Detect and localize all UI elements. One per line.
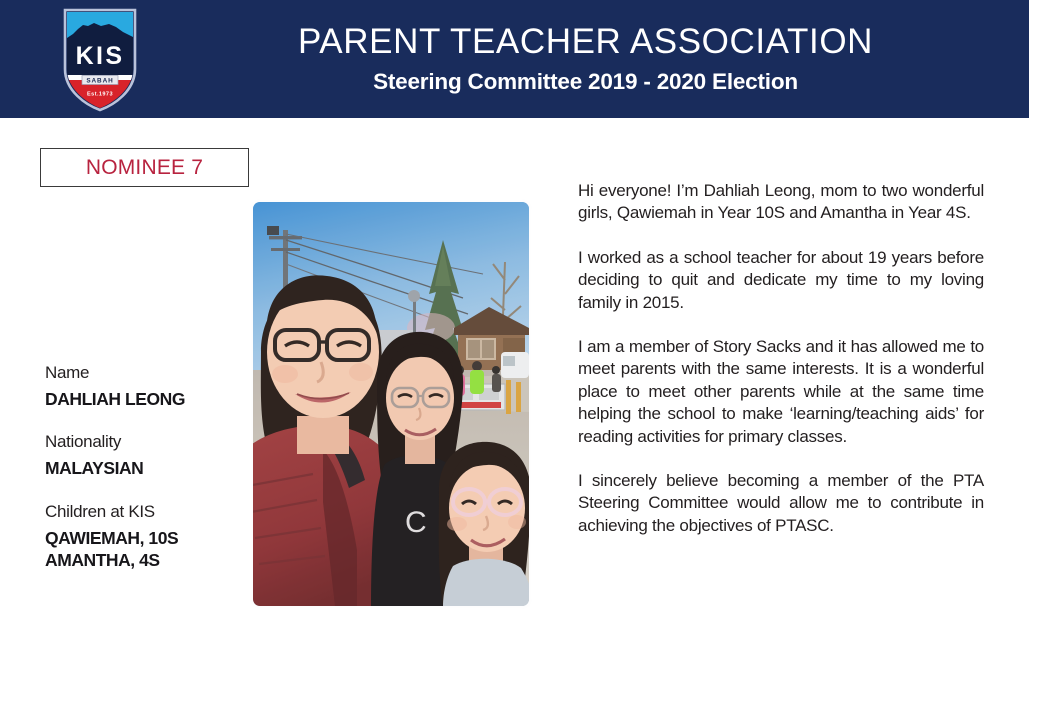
page-subtitle: Steering Committee 2019 - 2020 Election <box>373 70 798 94</box>
nominee-profile-page: KIS SABAH Est.1973 PARENT TEACHER ASSOCI… <box>0 0 1040 720</box>
statement-paragraph-3: I am a member of Story Sacks and it has … <box>578 336 984 448</box>
detail-group-nationality: Nationality MALAYSIAN <box>45 431 260 479</box>
nominee-portrait-photo: Columbia C <box>253 202 529 606</box>
detail-value-name: DAHLIAH LEONG <box>45 388 260 410</box>
svg-text:Est.1973: Est.1973 <box>87 92 113 98</box>
nominee-badge-label: NOMINEE 7 <box>86 156 203 180</box>
nominee-statement: Hi everyone! I’m Dahliah Leong, mom to t… <box>578 180 984 537</box>
detail-value-nationality: MALAYSIAN <box>45 457 260 479</box>
svg-text:SABAH: SABAH <box>86 78 113 85</box>
detail-group-children: Children at KIS QAWIEMAH, 10S AMANTHA, 4… <box>45 501 260 572</box>
detail-label-children: Children at KIS <box>45 501 260 524</box>
page-title: PARENT TEACHER ASSOCIATION <box>298 24 873 61</box>
page-header: KIS SABAH Est.1973 PARENT TEACHER ASSOCI… <box>0 0 1029 118</box>
detail-label-name: Name <box>45 362 260 385</box>
nominee-details-panel: Name DAHLIAH LEONG Nationality MALAYSIAN… <box>45 362 260 571</box>
detail-group-name: Name DAHLIAH LEONG <box>45 362 260 410</box>
statement-paragraph-2: I worked as a school teacher for about 1… <box>578 247 984 314</box>
statement-paragraph-4: I sincerely believe becoming a member of… <box>578 470 984 537</box>
detail-value-child-2: AMANTHA, 4S <box>45 549 260 571</box>
detail-label-nationality: Nationality <box>45 431 260 454</box>
statement-paragraph-1: Hi everyone! I’m Dahliah Leong, mom to t… <box>578 180 984 225</box>
svg-text:KIS: KIS <box>76 42 125 70</box>
header-text-block: PARENT TEACHER ASSOCIATION Steering Comm… <box>150 0 1021 118</box>
nominee-badge: NOMINEE 7 <box>40 148 249 187</box>
nominee-photo-container: Columbia C <box>246 194 536 614</box>
detail-value-child-1: QAWIEMAH, 10S <box>45 527 260 549</box>
kis-sabah-shield-logo: KIS SABAH Est.1973 <box>61 7 139 112</box>
